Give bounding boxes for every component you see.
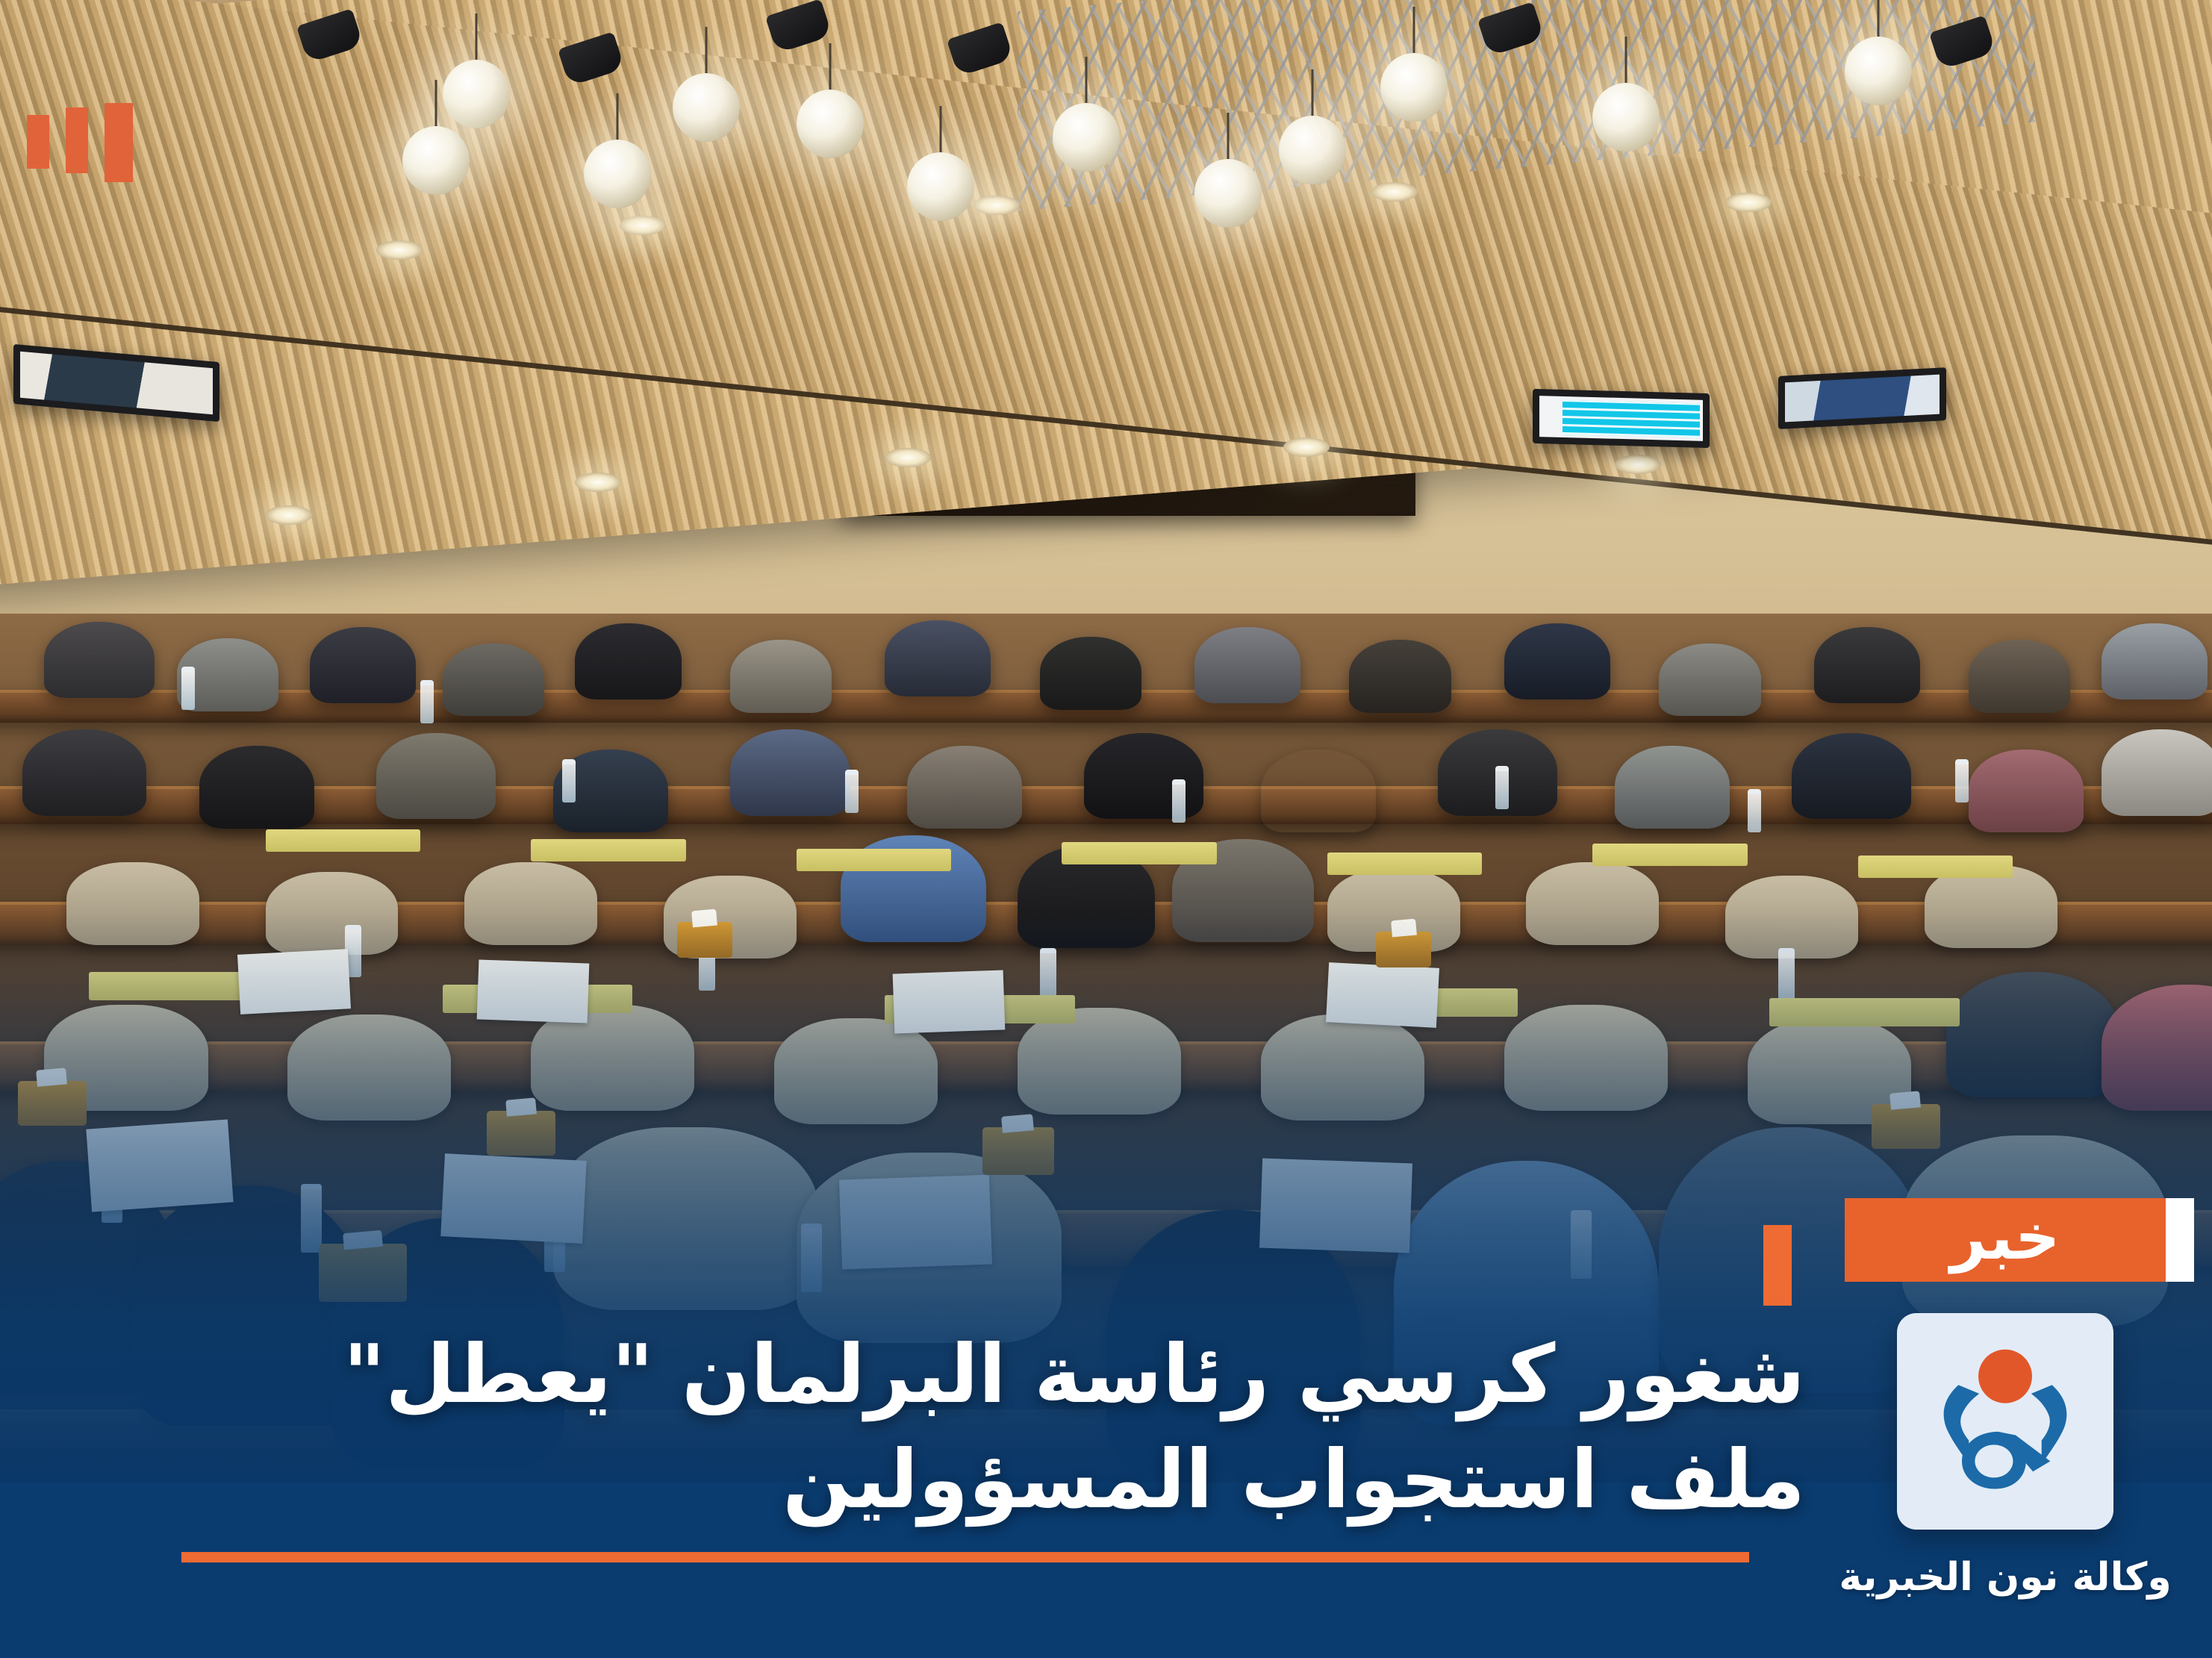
seated-member — [1969, 640, 2070, 713]
desk-pad — [1327, 853, 1482, 875]
headline-line-2: ملف استجواب المسؤولين — [90, 1431, 1805, 1530]
brand-column: خبر وكالة نون الخبرية — [1845, 1198, 2166, 1600]
seated-member — [2102, 729, 2212, 815]
ceiling-downlight — [973, 196, 1020, 215]
desk-pad — [1858, 856, 2013, 878]
ceiling-downlight — [1725, 193, 1772, 212]
bar-3 — [27, 115, 49, 169]
news-badge-label: خبر — [1950, 1206, 2060, 1268]
ceiling-downlight — [620, 216, 666, 235]
news-badge: خبر — [1845, 1198, 2166, 1282]
seated-member — [1659, 643, 1760, 717]
desk-pad — [266, 829, 420, 852]
pendant-light — [1380, 53, 1448, 122]
pendant-light — [1845, 37, 1912, 105]
seated-member — [2102, 623, 2208, 699]
pendant-light — [1053, 103, 1120, 172]
monitor-screen — [1785, 374, 1940, 422]
desk-pad — [1592, 844, 1747, 866]
broadcast-monitor-right — [1778, 367, 1946, 429]
seated-member — [22, 729, 146, 815]
ceiling-downlight — [575, 473, 621, 492]
seated-member — [730, 729, 850, 815]
water-bottle — [1172, 779, 1186, 823]
pendant-light — [1592, 83, 1660, 152]
headline-underline-rule — [181, 1552, 1749, 1562]
water-bottle — [1748, 789, 1761, 832]
seated-member — [885, 620, 991, 696]
seated-member — [730, 640, 832, 713]
seated-member — [1349, 640, 1451, 713]
news-card: شغور كرسي رئاسة البرلمان "يعطل" ملف استج… — [0, 0, 2212, 1658]
bar-1 — [105, 103, 133, 182]
ceiling-downlight — [1283, 437, 1330, 457]
bar-2 — [66, 107, 88, 173]
seated-member — [1814, 627, 1920, 703]
water-bottle — [562, 759, 576, 802]
ceiling-downlight — [1615, 455, 1661, 474]
seated-member — [199, 746, 314, 829]
seated-member — [1194, 627, 1300, 703]
seated-member — [575, 623, 681, 699]
water-bottle — [420, 680, 434, 723]
pendant-light — [1279, 116, 1346, 184]
desk-pad — [1062, 842, 1216, 864]
headline: شغور كرسي رئاسة البرلمان "يعطل" ملف استج… — [90, 1326, 1805, 1530]
water-bottle — [845, 770, 859, 813]
seated-member — [1040, 637, 1141, 710]
water-bottle — [181, 667, 195, 710]
voting-display-board — [1533, 389, 1710, 448]
agency-name: وكالة نون الخبرية — [1839, 1555, 2171, 1600]
noon-agency-logo-icon — [1919, 1335, 2092, 1508]
water-bottle — [1495, 766, 1509, 809]
pendant-light — [443, 60, 510, 128]
seated-member — [376, 733, 496, 819]
agency-logo[interactable] — [1897, 1313, 2113, 1530]
seated-member — [1504, 623, 1610, 699]
desk-pad — [531, 839, 685, 861]
pendant-light — [907, 152, 974, 221]
pendant-light — [402, 126, 470, 195]
seated-member — [1615, 746, 1730, 829]
pendant-light — [797, 90, 864, 158]
pendant-light — [584, 140, 651, 208]
monitor-screen — [20, 352, 213, 414]
ceiling-downlight — [885, 448, 931, 467]
three-bars-mark — [27, 103, 133, 182]
seated-member — [1969, 749, 2084, 832]
seated-member — [443, 643, 544, 717]
headline-line-1: شغور كرسي رئاسة البرلمان "يعطل" — [90, 1326, 1805, 1424]
seated-member — [1261, 749, 1376, 832]
seated-member — [44, 622, 155, 698]
monitor-screen — [1539, 396, 1703, 441]
seated-member — [1792, 733, 1911, 819]
headline-accent-bar — [1763, 1225, 1792, 1306]
water-bottle — [1955, 759, 1969, 802]
ceiling-downlight — [376, 240, 423, 260]
pendant-light — [1194, 159, 1262, 228]
seated-member — [907, 746, 1022, 829]
pendant-light — [673, 73, 740, 142]
seated-member — [310, 627, 416, 703]
desk-pad — [797, 849, 951, 871]
